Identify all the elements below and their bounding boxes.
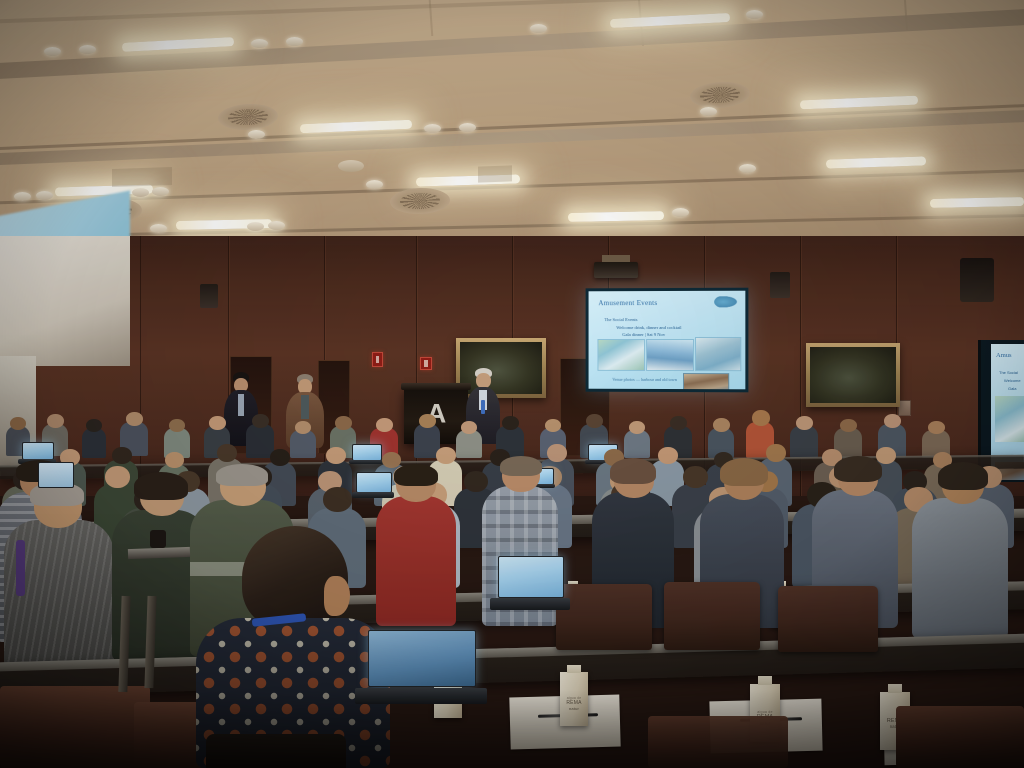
spotlight bbox=[268, 221, 285, 230]
slide-photo-aerial bbox=[597, 339, 645, 371]
spotlight bbox=[132, 188, 149, 197]
slide-caption: Venue photos — harbour and old town bbox=[612, 377, 677, 382]
laptop[interactable] bbox=[368, 630, 474, 704]
spotlight bbox=[44, 47, 61, 56]
strip-light bbox=[568, 211, 664, 222]
fire-alarm-sign bbox=[372, 352, 383, 367]
chair[interactable] bbox=[0, 686, 150, 768]
projection-screen: Amusement Events The Social Events Welco… bbox=[586, 288, 749, 393]
lanyard bbox=[16, 540, 25, 596]
spotlight bbox=[251, 39, 268, 48]
spotlight bbox=[530, 24, 547, 33]
side-slide-bullet: Welcome bbox=[1004, 378, 1021, 383]
spotlight bbox=[746, 10, 763, 19]
painting-right bbox=[806, 343, 900, 407]
spotlight bbox=[672, 208, 689, 217]
side-slide-bullet: Gala bbox=[1008, 386, 1016, 391]
spotlight bbox=[248, 130, 265, 139]
wall-speaker bbox=[200, 284, 218, 308]
slide-bullet: The Social Events bbox=[604, 317, 637, 322]
slide-photo-waterfront bbox=[646, 339, 694, 371]
ceiling-panel bbox=[478, 165, 512, 182]
projector-remote bbox=[150, 530, 166, 548]
wall-speaker bbox=[770, 272, 790, 298]
audience-member-grey bbox=[912, 498, 1008, 638]
air-diffuser bbox=[217, 102, 278, 131]
side-slide-title: Amus bbox=[996, 352, 1012, 359]
ceiling-panel bbox=[112, 167, 172, 187]
strip-light bbox=[930, 197, 1024, 208]
strip-light bbox=[826, 156, 926, 168]
spotlight bbox=[247, 222, 264, 231]
event-logo bbox=[714, 295, 740, 309]
chair[interactable] bbox=[648, 716, 788, 768]
air-diffuser bbox=[689, 80, 751, 110]
ceiling bbox=[0, 0, 1024, 250]
chair[interactable] bbox=[896, 706, 1024, 768]
wall-speaker bbox=[960, 258, 994, 302]
spotlight bbox=[366, 180, 383, 189]
laptop[interactable] bbox=[356, 472, 390, 498]
spotlight bbox=[424, 124, 441, 133]
tablet[interactable] bbox=[38, 462, 74, 488]
fire-extinguisher-sign bbox=[420, 357, 432, 370]
photo-scene: Amusement Events The Social Events Welco… bbox=[0, 0, 1024, 768]
chair[interactable] bbox=[556, 584, 652, 650]
ceiling-projector bbox=[594, 262, 638, 278]
slide-photo-plaza bbox=[695, 337, 741, 371]
water-carton[interactable]: aigua de REMA natur bbox=[560, 672, 588, 726]
air-diffuser bbox=[390, 187, 451, 215]
spotlight bbox=[286, 37, 303, 46]
chair[interactable] bbox=[664, 582, 760, 650]
spotlight bbox=[79, 45, 96, 54]
strip-light bbox=[800, 96, 918, 110]
wall-light-panel bbox=[0, 236, 130, 366]
projected-slide: Amusement Events The Social Events Welco… bbox=[589, 291, 746, 390]
attendee-patterned-shirt bbox=[196, 512, 390, 768]
slide-bullet: Gala dinner | Sat 9 Nov bbox=[622, 332, 665, 337]
ear bbox=[324, 576, 350, 616]
slide-title: Amusement Events bbox=[598, 299, 657, 307]
chair[interactable] bbox=[778, 586, 878, 652]
strip-light bbox=[122, 37, 234, 52]
podium-top bbox=[401, 383, 471, 390]
slide-photo-night-venue bbox=[683, 373, 729, 389]
spotlight bbox=[152, 187, 169, 196]
spotlight bbox=[14, 192, 31, 201]
spotlight bbox=[459, 123, 476, 132]
spotlight bbox=[150, 224, 167, 233]
spotlight bbox=[36, 191, 53, 200]
spotlight bbox=[739, 164, 756, 173]
side-slide-bullet: The Social bbox=[999, 370, 1018, 375]
backpack bbox=[206, 734, 346, 768]
laptop[interactable] bbox=[498, 556, 562, 610]
slide-bullet: Welcome drink, dinner and cocktail bbox=[616, 325, 681, 330]
spotlight bbox=[700, 107, 717, 116]
smoke-detector bbox=[338, 160, 364, 172]
